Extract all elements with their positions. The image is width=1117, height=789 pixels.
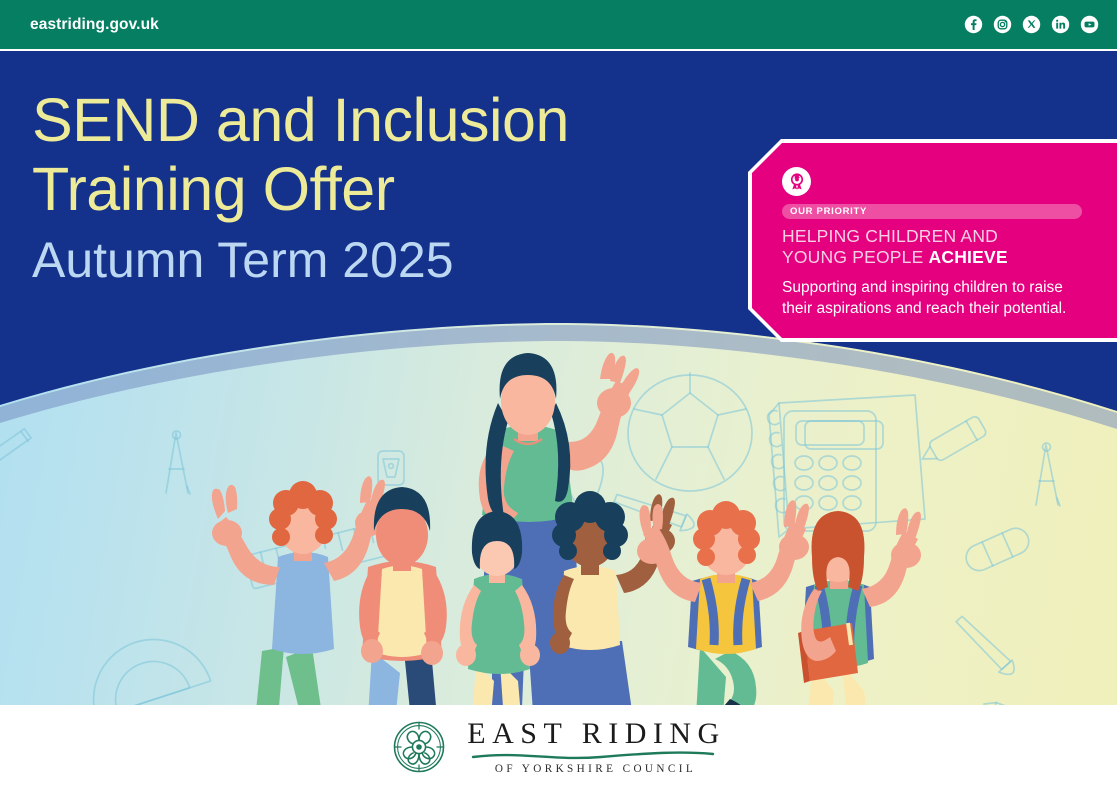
hero-banner: SEND and Inclusion Training Offer Autumn…: [0, 51, 1117, 705]
footer-bar: EAST RIDING OF YORKSHIRE COUNCIL: [0, 705, 1117, 789]
paintbrush-icon: [955, 611, 1019, 680]
priority-pill: OUR PRIORITY: [782, 204, 1082, 219]
logo-wave-rule: [471, 750, 715, 762]
logo-main-text: EAST RIDING: [461, 718, 725, 750]
protractor-icon: [78, 624, 211, 705]
site-url-label[interactable]: eastriding.gov.uk: [30, 16, 159, 34]
page-title-line2: Training Offer: [32, 155, 569, 224]
priority-heading-line2-prefix: YOUNG PEOPLE: [782, 247, 929, 267]
compass-icon: [1036, 443, 1060, 506]
page-title-line1: SEND and Inclusion: [32, 86, 569, 155]
pencil-icon: [981, 689, 1066, 705]
priority-heading: HELPING CHILDREN AND YOUNG PEOPLE ACHIEV…: [782, 226, 1087, 268]
poster-page: eastriding.gov.uk: [0, 0, 1117, 789]
linkedin-icon[interactable]: [1051, 15, 1070, 34]
x-twitter-icon[interactable]: [1022, 15, 1041, 34]
crayon-icon: [917, 415, 988, 469]
youtube-icon[interactable]: [1080, 15, 1099, 34]
priority-card: OUR PRIORITY HELPING CHILDREN AND YOUNG …: [752, 143, 1117, 338]
hero-title-block: SEND and Inclusion Training Offer Autumn…: [32, 86, 569, 296]
logo-sub-text: OF YORKSHIRE COUNCIL: [491, 762, 696, 776]
people-group: [212, 353, 921, 705]
football-icon: [628, 373, 752, 491]
priority-heading-emphasis: ACHIEVE: [929, 247, 1008, 267]
council-logo: EAST RIDING OF YORKSHIRE COUNCIL: [391, 718, 725, 776]
priority-heading-line1: HELPING CHILDREN AND: [782, 226, 998, 246]
priority-pill-label: OUR PRIORITY: [790, 206, 867, 217]
compass-icon: [166, 431, 190, 494]
priority-body-text: Supporting and inspiring children to rai…: [782, 277, 1087, 319]
pencil-icon: [0, 428, 34, 464]
person-child-1: [212, 476, 385, 705]
person-child-6: [797, 508, 921, 705]
plaster-icon: [962, 524, 1033, 575]
page-subtitle: Autumn Term 2025: [32, 224, 569, 296]
social-links: [964, 15, 1099, 34]
site-topbar: eastriding.gov.uk: [0, 0, 1117, 49]
facebook-icon[interactable]: [964, 15, 983, 34]
yorkshire-rose-knot-icon: [391, 719, 447, 775]
instagram-icon[interactable]: [993, 15, 1012, 34]
rosette-award-icon: [782, 167, 811, 196]
